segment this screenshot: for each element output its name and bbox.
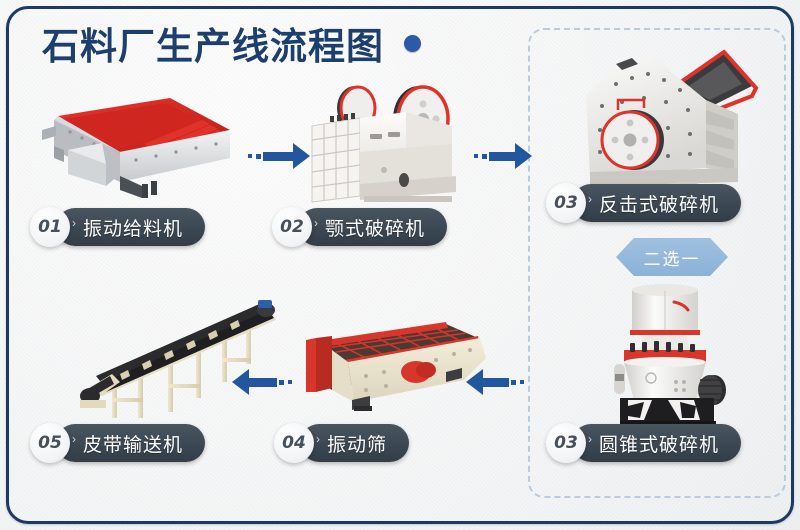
step-label-01[interactable]: 01 › 振动给料机 bbox=[30, 208, 205, 246]
arrow-head bbox=[232, 369, 249, 395]
step-label-02[interactable]: 02 › 颚式破碎机 bbox=[272, 208, 447, 246]
equipment-impact-crusher bbox=[556, 48, 772, 200]
step-number-badge: 01 bbox=[30, 207, 70, 247]
step-pill[interactable]: › 振动筛 bbox=[300, 424, 409, 462]
arrow-dot bbox=[256, 154, 261, 159]
step-label-text: 反击式破碎机 bbox=[599, 190, 719, 217]
step-pill[interactable]: › 圆锥式破碎机 bbox=[572, 424, 741, 462]
step-pill[interactable]: › 颚式破碎机 bbox=[298, 208, 447, 246]
step-label-04[interactable]: 04 › 振动筛 bbox=[274, 424, 409, 462]
arrow-dot bbox=[482, 154, 487, 159]
arrow-dot bbox=[279, 380, 284, 385]
step-pill[interactable]: › 反击式破碎机 bbox=[572, 184, 741, 222]
arrow-crusher-to-screen bbox=[466, 369, 526, 395]
arrow-dot bbox=[511, 380, 516, 385]
equipment-jaw-crusher bbox=[306, 74, 472, 206]
arrow-dot bbox=[474, 154, 478, 158]
step-label-text: 振动筛 bbox=[327, 430, 387, 457]
step-label-text: 振动给料机 bbox=[83, 214, 183, 241]
chevron-right-icon: › bbox=[316, 432, 320, 446]
arrow-head bbox=[466, 369, 483, 395]
arrow-shaft bbox=[483, 378, 509, 387]
step-label-text: 颚式破碎机 bbox=[325, 214, 425, 241]
equipment-belt-conveyor bbox=[76, 296, 292, 428]
step-label-text: 皮带输送机 bbox=[83, 430, 183, 457]
arrow-head bbox=[293, 143, 310, 169]
chevron-right-icon: › bbox=[588, 432, 592, 446]
arrow-shaft bbox=[489, 152, 515, 161]
step-label-05[interactable]: 05 › 皮带输送机 bbox=[30, 424, 205, 462]
step-number-badge: 03 bbox=[546, 423, 586, 463]
step-number-badge: 04 bbox=[274, 423, 314, 463]
equipment-vibrating-feeder bbox=[24, 86, 244, 206]
step-label-03-cone[interactable]: 03 › 圆锥式破碎机 bbox=[546, 424, 741, 462]
step-label-03-impact[interactable]: 03 › 反击式破碎机 bbox=[546, 184, 741, 222]
arrow-screen-to-conveyor bbox=[232, 369, 294, 395]
arrow-shaft bbox=[249, 378, 277, 387]
step-number-badge: 05 bbox=[30, 423, 70, 463]
arrow-shaft bbox=[263, 152, 293, 161]
arrow-jaw-to-crusher-group bbox=[472, 143, 532, 169]
equipment-cone-crusher bbox=[594, 278, 750, 434]
chevron-right-icon: › bbox=[72, 432, 76, 446]
arrow-head bbox=[515, 143, 532, 169]
arrow-feeder-to-jaw bbox=[246, 143, 310, 169]
chevron-right-icon: › bbox=[588, 192, 592, 206]
step-number-badge: 03 bbox=[546, 183, 586, 223]
title-dot-icon bbox=[404, 35, 421, 52]
page-title: 石料厂生产线流程图 bbox=[42, 16, 384, 70]
arrow-dot bbox=[520, 380, 524, 384]
flowchart-canvas: 石料厂生产线流程图 bbox=[0, 0, 800, 530]
step-label-text: 圆锥式破碎机 bbox=[599, 430, 719, 457]
chevron-right-icon: › bbox=[72, 216, 76, 230]
step-number-badge: 02 bbox=[272, 207, 312, 247]
step-pill[interactable]: › 皮带输送机 bbox=[56, 424, 205, 462]
choose-one-badge: 二选一 bbox=[616, 238, 728, 276]
page-title-wrap: 石料厂生产线流程图 bbox=[42, 16, 421, 70]
arrow-dot bbox=[288, 380, 292, 384]
arrow-dot bbox=[248, 154, 252, 158]
step-pill[interactable]: › 振动给料机 bbox=[56, 208, 205, 246]
chevron-right-icon: › bbox=[314, 216, 318, 230]
